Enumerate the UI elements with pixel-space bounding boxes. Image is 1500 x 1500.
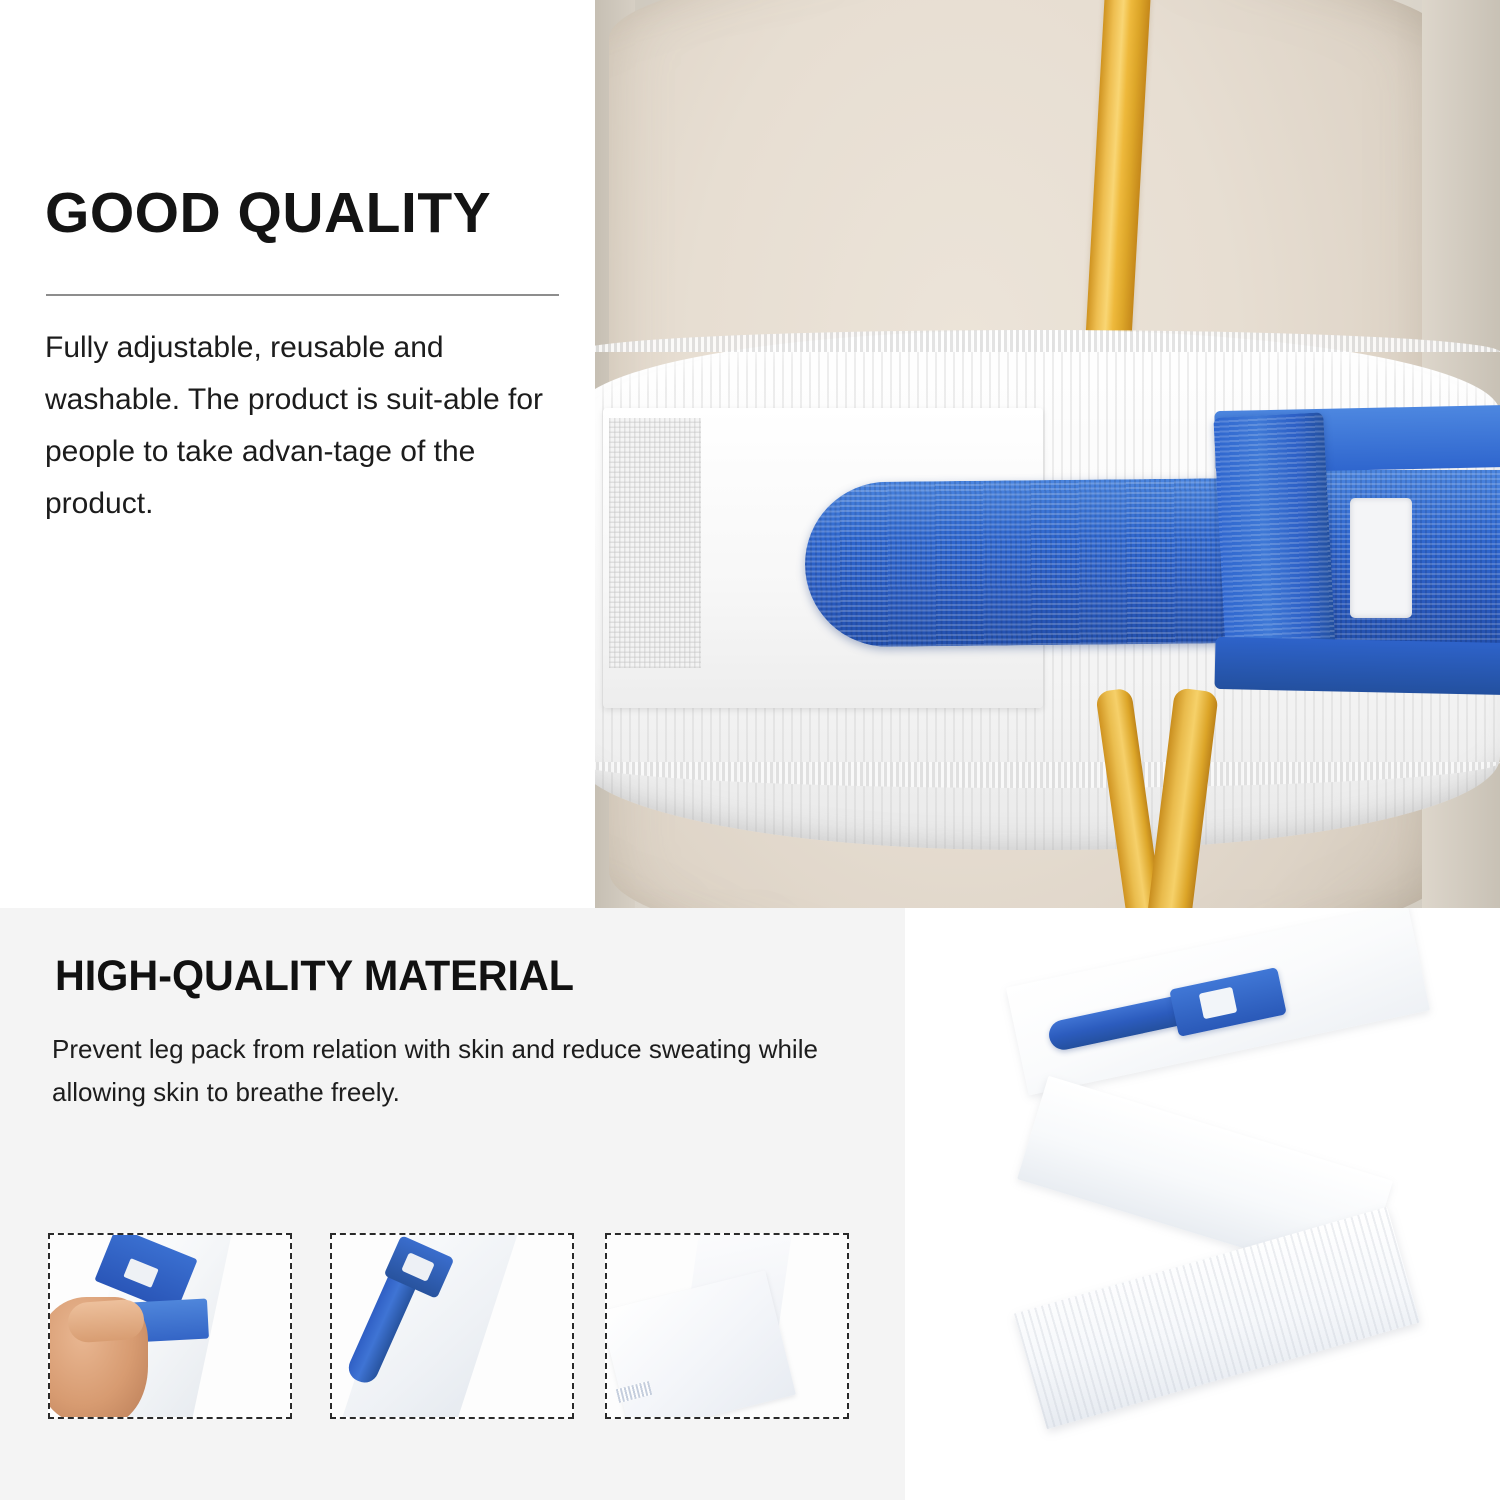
top-section: GOOD QUALITY Fully adjustable, reusable … (0, 0, 1500, 908)
thumbnail-image (607, 1235, 847, 1417)
hero-product-photo (595, 0, 1500, 908)
thumbnail-folded-band (605, 1233, 849, 1419)
title-divider (46, 294, 559, 296)
thumbnail-image (50, 1235, 290, 1417)
high-quality-material-panel: HIGH-QUALITY MATERIAL Prevent leg pack f… (0, 908, 905, 1500)
band-velcro-patch (609, 418, 701, 668)
band-top-edge (595, 330, 1500, 352)
good-quality-body-text: Fully adjustable, reusable and washable.… (45, 322, 545, 530)
high-quality-material-body-text: Prevent leg pack from relation with skin… (52, 1028, 842, 1114)
good-quality-title: GOOD QUALITY (45, 185, 491, 242)
thumbnail-image (332, 1235, 572, 1417)
bottom-section: HIGH-QUALITY MATERIAL Prevent leg pack f… (0, 908, 1500, 1500)
thumbnail-hand-pulling-strap (48, 1233, 292, 1419)
finger (67, 1298, 146, 1343)
blue-strap-fold-bottom (1214, 637, 1500, 695)
thumbnail-strap-on-band (330, 1233, 574, 1419)
high-quality-material-title: HIGH-QUALITY MATERIAL (55, 955, 574, 998)
buckle-hole (1350, 498, 1412, 618)
product-photo-folded-band (905, 908, 1500, 1500)
good-quality-text-panel: GOOD QUALITY Fully adjustable, reusable … (0, 0, 595, 908)
